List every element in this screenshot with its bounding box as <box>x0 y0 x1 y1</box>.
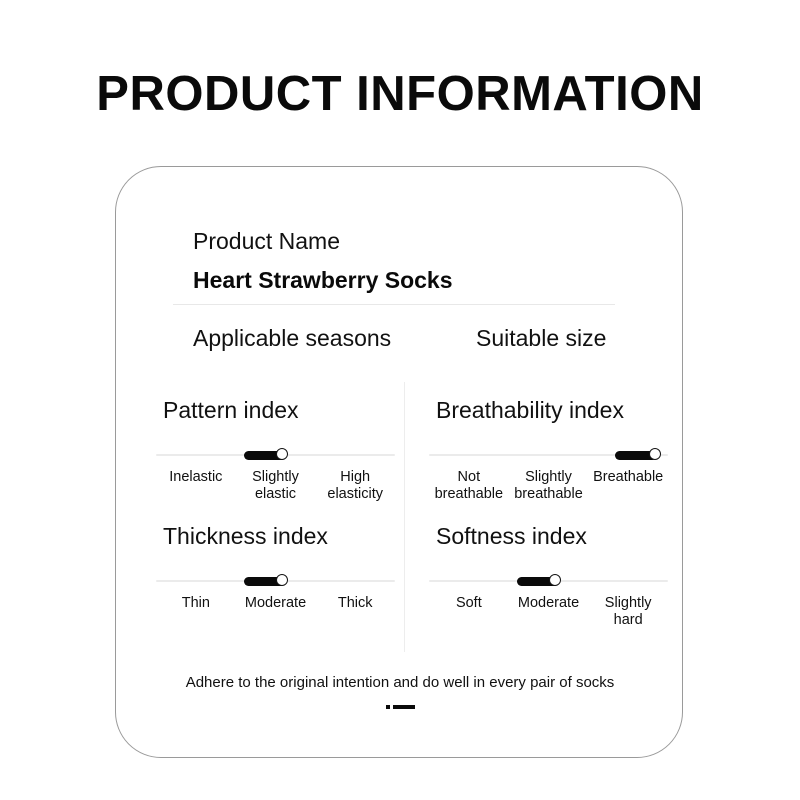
scale-labels: Soft Moderate Slightly hard <box>429 595 668 629</box>
slider-knob[interactable] <box>649 448 661 460</box>
scale-labels: Thin Moderate Thick <box>156 595 395 612</box>
scale-label: Breathable <box>588 469 668 503</box>
thickness-index-slider[interactable] <box>156 574 395 588</box>
product-information-card: Product Name Heart Strawberry Socks Appl… <box>115 166 683 758</box>
product-name-value: Heart Strawberry Socks <box>193 269 637 292</box>
index-title: Thickness index <box>156 525 401 548</box>
scale-label: Thick <box>315 595 395 612</box>
index-title: Breathability index <box>429 399 674 422</box>
scale-label: Slightly hard <box>588 595 668 629</box>
ornament-dash-icon <box>393 705 415 709</box>
slider-knob[interactable] <box>549 574 561 586</box>
scale-label: Slightly elastic <box>236 469 316 503</box>
index-item-thickness: Thickness index Thin Moderate Thick <box>156 525 401 612</box>
scale-labels: Not breathable Slightly breathable Breat… <box>429 469 668 503</box>
ornament-dot-icon <box>386 705 390 709</box>
product-name-label: Product Name <box>193 230 637 253</box>
index-title: Pattern index <box>156 399 401 422</box>
scale-label: Not breathable <box>429 469 509 503</box>
slider-knob[interactable] <box>276 448 288 460</box>
scale-label: Inelastic <box>156 469 236 503</box>
scale-label: Soft <box>429 595 509 629</box>
suitable-size-label: Suitable size <box>476 327 606 350</box>
index-item-pattern: Pattern index Inelastic Slightly elastic… <box>156 399 401 503</box>
breathability-index-slider[interactable] <box>429 448 668 462</box>
scale-labels: Inelastic Slightly elastic High elastici… <box>156 469 395 503</box>
softness-index-slider[interactable] <box>429 574 668 588</box>
index-title: Softness index <box>429 525 674 548</box>
slider-knob[interactable] <box>276 574 288 586</box>
scale-label: Moderate <box>236 595 316 612</box>
scale-label: Moderate <box>509 595 589 629</box>
scale-label: High elasticity <box>315 469 395 503</box>
scale-label: Thin <box>156 595 236 612</box>
pattern-index-slider[interactable] <box>156 448 395 462</box>
index-item-softness: Softness index Soft Moderate Slightly ha… <box>429 525 674 629</box>
product-name-block: Product Name Heart Strawberry Socks <box>193 230 637 292</box>
section-divider <box>173 304 615 305</box>
column-divider <box>404 382 405 652</box>
scale-label: Slightly breathable <box>509 469 589 503</box>
index-item-breathability: Breathability index Not breathable Sligh… <box>429 399 674 503</box>
footer-tagline: Adhere to the original intention and do … <box>116 675 684 690</box>
page-title: PRODUCT INFORMATION <box>0 70 800 119</box>
applicable-seasons-label: Applicable seasons <box>193 327 391 350</box>
dot-dash-ornament-icon <box>116 705 684 709</box>
